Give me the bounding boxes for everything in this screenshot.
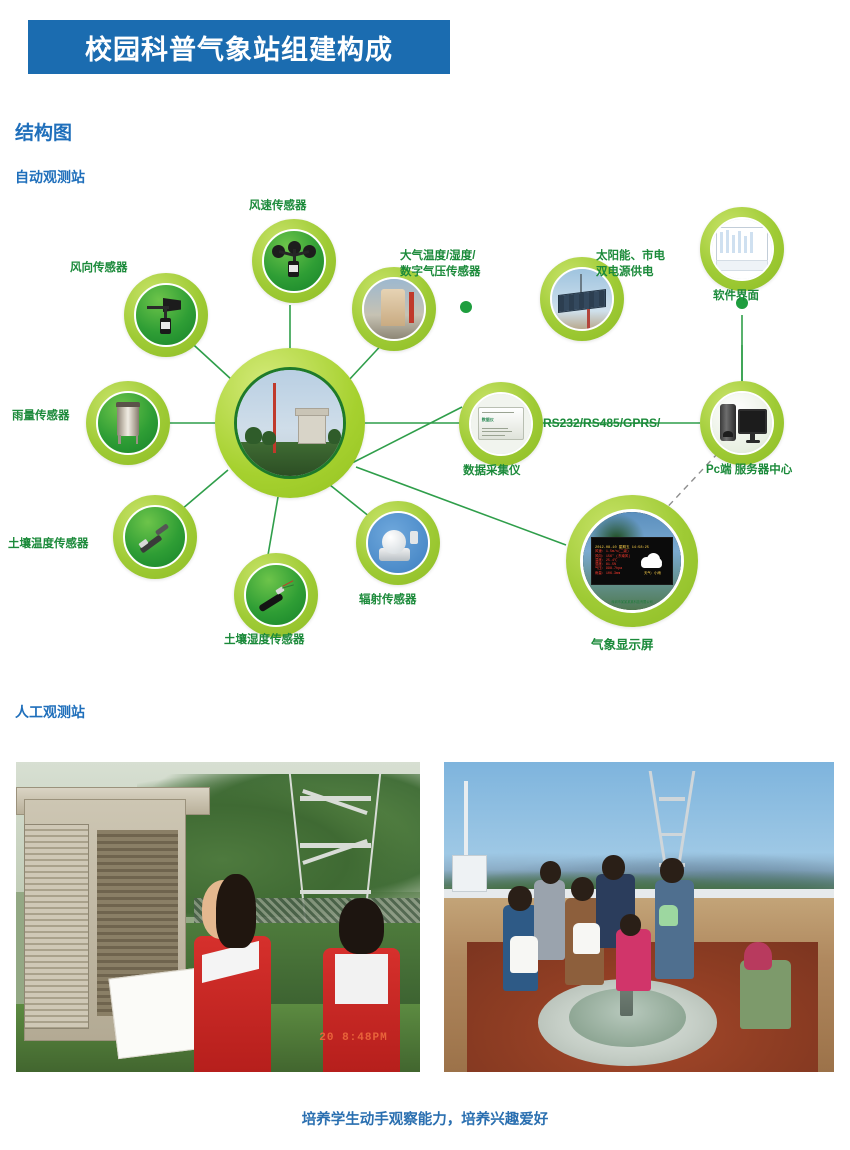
bottom-caption: 培养学生动手观察能力，培养兴趣爱好 xyxy=(0,1108,850,1129)
led-display-icon: 2012-08-10 星期五 14:58:25 风速: 1.5m/s(二级) 风… xyxy=(580,509,684,613)
node-ring xyxy=(124,273,208,357)
node-soil-moisture-sensor[interactable] xyxy=(234,553,318,637)
hub-photo xyxy=(234,367,346,479)
led-weather-label: 天气：小雨 xyxy=(644,570,661,576)
wind-vane-icon xyxy=(134,283,198,347)
node-software-interface[interactable] xyxy=(700,207,784,291)
connection-protocol-label: RS232/RS485/GPRS/ xyxy=(543,416,660,430)
label-data-logger: 数据采集仪 xyxy=(463,464,521,480)
label-radiation-sensor: 辐射传感器 xyxy=(359,593,417,609)
node-pc-server-center[interactable] xyxy=(700,381,784,465)
pc-server-icon xyxy=(710,391,774,455)
node-ring xyxy=(252,219,336,303)
anemometer-icon xyxy=(262,229,326,293)
photo-students-soil-instruments xyxy=(444,762,834,1072)
hub-ring xyxy=(215,348,365,498)
label-rain-sensor: 雨量传感器 xyxy=(12,409,70,425)
software-screen-icon xyxy=(710,217,774,281)
node-ring xyxy=(234,553,318,637)
header-banner: 校园科普气象站组建构成 xyxy=(28,20,450,74)
node-radiation-sensor[interactable] xyxy=(356,501,440,585)
section-heading-manual-station: 人工观测站 xyxy=(15,702,85,722)
node-wind-direction-sensor[interactable] xyxy=(124,273,208,357)
section-heading-auto-station: 自动观测站 xyxy=(15,167,85,187)
label-wind-direction-sensor: 风向传感器 xyxy=(70,261,128,277)
label-pc-server-center: Pc端 服务器中心 xyxy=(706,463,792,479)
led-footer: 深圳市某某某某科技有限公司 xyxy=(583,599,681,604)
section-heading-structure: 结构图 xyxy=(15,118,72,145)
radiation-sensor-icon xyxy=(366,511,430,575)
label-wind-speed-sensor: 风速传感器 xyxy=(249,199,307,215)
data-logger-icon: 数据仪 xyxy=(469,392,533,456)
label-soil-moisture-sensor: 土壤湿度传感器 xyxy=(224,633,305,649)
label-temp-humidity-pressure-sensor: 大气温度/湿度/ 数字气压传感器 xyxy=(400,249,481,280)
node-wind-speed-sensor[interactable] xyxy=(252,219,336,303)
structure-diagram: 风速传感器 风向传感器 xyxy=(0,185,850,665)
temperature-humidity-pressure-icon xyxy=(362,277,426,341)
label-software-interface: 软件界面 xyxy=(713,289,759,305)
node-ring: 2012-08-10 星期五 14:58:25 风速: 1.5m/s(二级) 风… xyxy=(566,495,698,627)
node-data-logger[interactable]: 数据仪 xyxy=(459,382,543,466)
node-ring xyxy=(700,207,784,291)
soil-temperature-probe-icon xyxy=(123,505,187,569)
label-weather-display: 气象显示屏 xyxy=(591,637,654,654)
hub-node-weather-station[interactable] xyxy=(215,348,365,498)
node-ring xyxy=(86,381,170,465)
rain-gauge-icon xyxy=(96,391,160,455)
node-ring: 数据仪 xyxy=(459,382,543,466)
cloud-icon xyxy=(638,552,664,569)
label-power-supply: 太阳能、市电 双电源供电 xyxy=(596,249,665,280)
node-rain-sensor[interactable] xyxy=(86,381,170,465)
node-ring xyxy=(113,495,197,579)
led-panel: 2012-08-10 星期五 14:58:25 风速: 1.5m/s(二级) 风… xyxy=(591,537,673,584)
soil-moisture-probe-icon xyxy=(244,563,308,627)
node-weather-display[interactable]: 2012-08-10 星期五 14:58:25 风速: 1.5m/s(二级) 风… xyxy=(566,495,698,627)
poster-page: 校园科普气象站组建构成 结构图 自动观测站 人工观测站 xyxy=(0,0,850,1150)
node-ring xyxy=(356,501,440,585)
photo-timestamp: 20 8:48PM xyxy=(319,1032,387,1044)
node-soil-temperature-sensor[interactable] xyxy=(113,495,197,579)
node-ring xyxy=(700,381,784,465)
photo-students-stevenson-screen: 20 8:48PM xyxy=(16,762,420,1072)
page-title: 校园科普气象站组建构成 xyxy=(85,28,393,67)
label-soil-temperature-sensor: 土壤温度传感器 xyxy=(8,537,89,553)
